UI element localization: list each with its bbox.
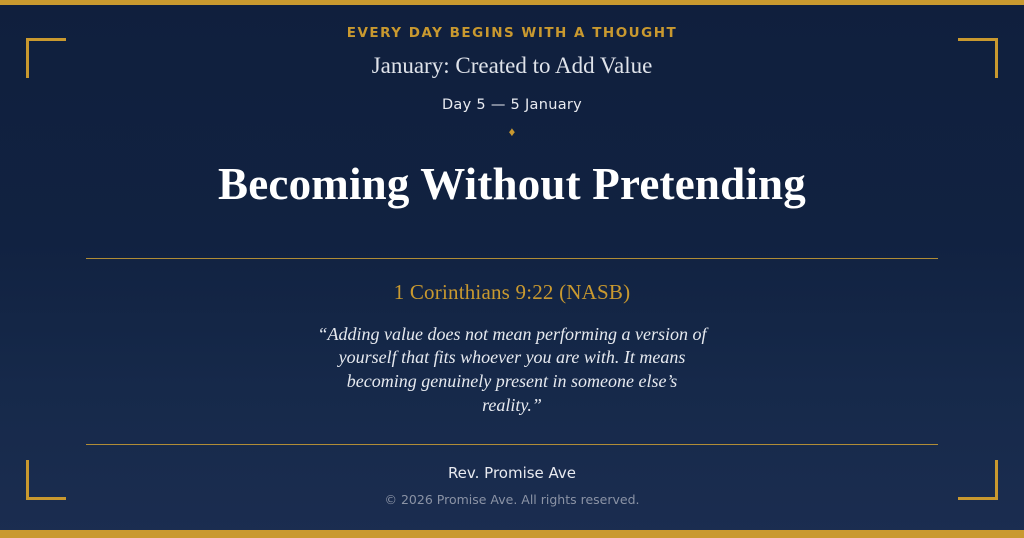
- eyebrow-tagline: EVERY DAY BEGINS WITH A THOUGHT: [0, 0, 1024, 41]
- devotional-quote: “Adding value does not mean performing a…: [317, 323, 707, 418]
- card-content: EVERY DAY BEGINS WITH A THOUGHT January:…: [0, 0, 1024, 538]
- day-and-date: Day 5 — 5 January: [0, 81, 1024, 113]
- verse-reference: 1 Corinthians 9:22 (NASB): [0, 259, 1024, 305]
- diamond-ornament-icon: ♦: [0, 113, 1024, 138]
- devotional-card: EVERY DAY BEGINS WITH A THOUGHT January:…: [0, 0, 1024, 538]
- copyright-notice: © 2026 Promise Ave. All rights reserved.: [0, 482, 1024, 507]
- author-name: Rev. Promise Ave: [0, 445, 1024, 482]
- page-title: Becoming Without Pretending: [0, 138, 1024, 211]
- month-theme: January: Created to Add Value: [0, 41, 1024, 81]
